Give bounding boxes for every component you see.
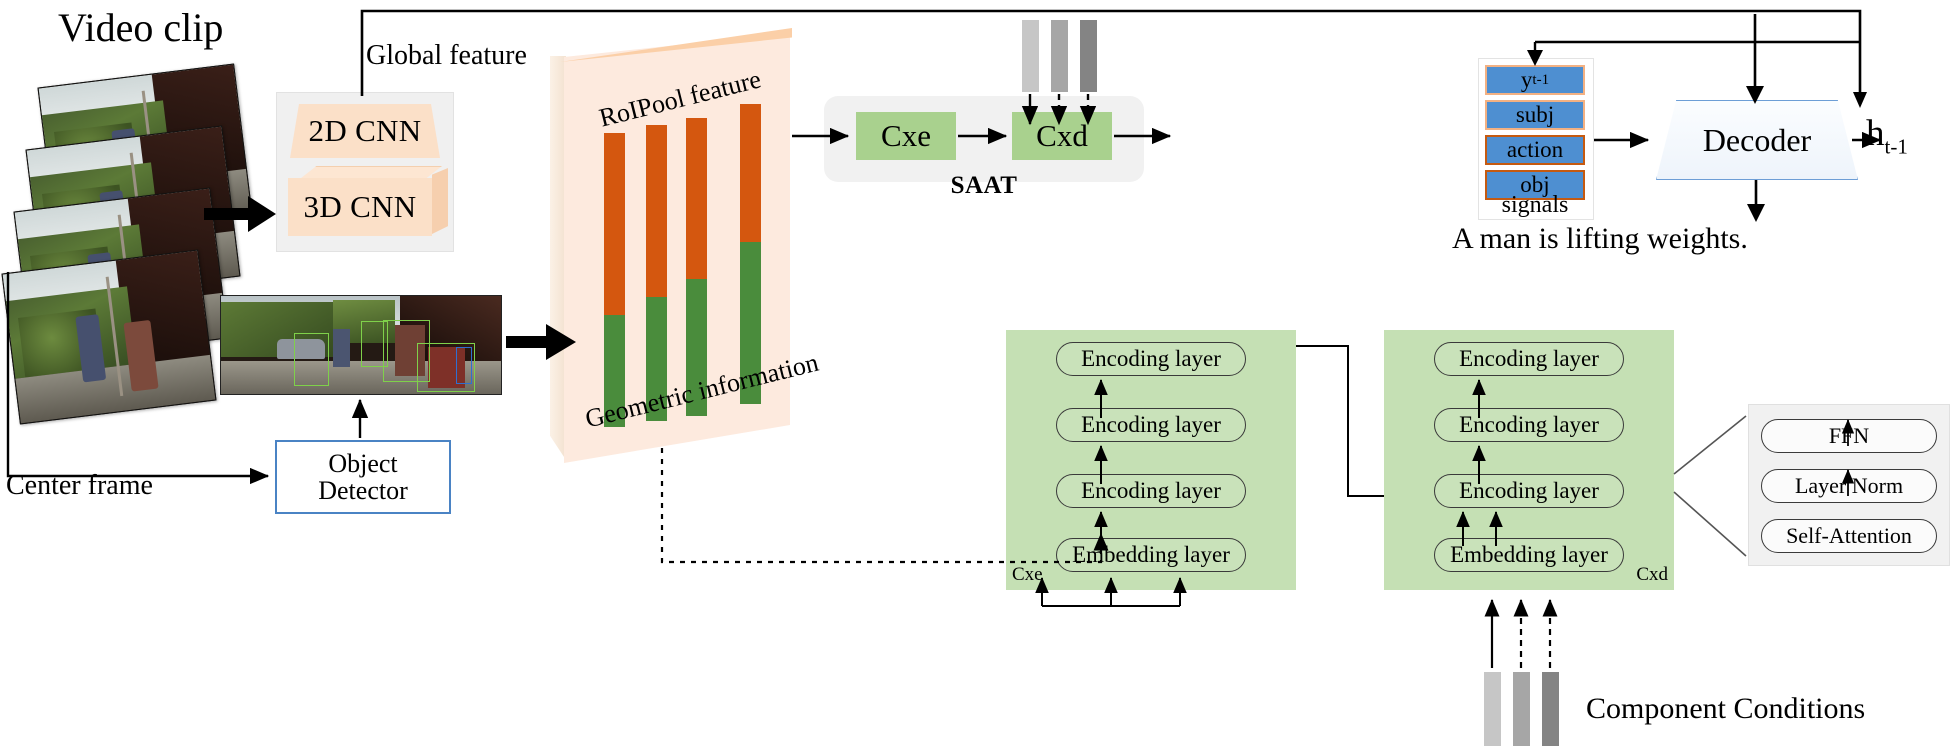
signal-label: subj — [1516, 102, 1554, 128]
hidden-state-subscript: t-1 — [1885, 134, 1908, 158]
layer-norm-label: Layer Norm — [1795, 473, 1903, 499]
decoder-label: Decoder — [1703, 122, 1811, 159]
center-frame-image — [220, 295, 502, 395]
condition-bar-bottom-2 — [1513, 672, 1530, 746]
generated-caption: A man is lifting weights. — [1452, 222, 1748, 256]
cxe-module[interactable]: Cxe — [856, 112, 956, 160]
decoder-block[interactable]: Decoder — [1656, 100, 1858, 180]
condition-bar-top-1 — [1022, 20, 1039, 92]
signal-item-subj[interactable]: subj — [1485, 100, 1585, 130]
cxd-panel-tag: Cxd — [1636, 564, 1668, 586]
cxe-panel-tag: Cxe — [1012, 564, 1043, 586]
arrow-global-to-decoder — [1746, 14, 1764, 104]
cnn-3d-front-face: 3D CNN — [288, 178, 432, 236]
self-attention-item[interactable]: Self-Attention — [1761, 519, 1937, 553]
cxd-label: Cxd — [1036, 118, 1088, 154]
layer-label: Encoding layer — [1459, 412, 1599, 438]
roipool-bar — [604, 133, 625, 427]
saat-label: SAAT — [824, 172, 1144, 200]
cxd-encoding-layer-1[interactable]: Encoding layer — [1434, 474, 1624, 508]
cnn-2d-block[interactable]: 2D CNN — [290, 104, 440, 158]
component-conditions-label: Component Conditions — [1586, 692, 1865, 726]
hidden-state-output: ht-1 — [1866, 112, 1908, 159]
center-frame-label: Center frame — [6, 472, 153, 500]
hidden-state-symbol: h — [1866, 113, 1885, 154]
cxd-embedding-layer[interactable]: Embedding layer — [1434, 538, 1624, 572]
layer-label: Encoding layer — [1081, 412, 1221, 438]
cxd-encoding-layer-3[interactable]: Encoding layer — [1434, 342, 1624, 376]
cxe-detail-panel: Encoding layer Encoding layer Encoding l… — [1006, 330, 1296, 590]
signal-label: y — [1521, 67, 1533, 93]
object-detector-box[interactable]: Object Detector — [275, 440, 451, 514]
video-frame — [1, 250, 216, 425]
roipool-bar — [686, 118, 707, 416]
object-detector-label-line1: Object — [318, 450, 408, 477]
signal-label: action — [1507, 137, 1563, 163]
condition-bar-top-3 — [1080, 20, 1097, 92]
cnn-3d-block[interactable]: 3D CNN — [288, 166, 448, 238]
video-clip-title: Video clip — [58, 8, 223, 48]
condition-bar-bottom-1 — [1484, 672, 1501, 746]
condition-bar-top-2 — [1051, 20, 1068, 92]
cxd-encoding-layer-2[interactable]: Encoding layer — [1434, 408, 1624, 442]
detection-box — [294, 333, 330, 386]
cnn-3d-side-face — [432, 168, 448, 234]
cxd-condition-inputs — [1492, 600, 1550, 668]
layer-label: Embedding layer — [1072, 542, 1230, 568]
cxe-encoding-layer-1[interactable]: Encoding layer — [1056, 474, 1246, 508]
self-attention-label: Self-Attention — [1786, 523, 1912, 549]
layer-label: Encoding layer — [1459, 478, 1599, 504]
layer-label: Encoding layer — [1081, 478, 1221, 504]
roipool-bar — [646, 125, 667, 421]
ffn-item[interactable]: FFN — [1761, 419, 1937, 453]
signal-item-y[interactable]: yt-1 — [1485, 65, 1585, 95]
encoding-layer-detail-panel: FFN Layer Norm Self-Attention — [1748, 404, 1950, 566]
cxd-detail-panel: Encoding layer Encoding layer Encoding l… — [1384, 330, 1674, 590]
layer-label: Encoding layer — [1081, 346, 1221, 372]
detection-box — [361, 321, 388, 366]
cxe-label: Cxe — [881, 118, 931, 154]
condition-bar-bottom-3 — [1542, 672, 1559, 746]
detection-box — [456, 347, 472, 384]
cxe-encoding-layer-3[interactable]: Encoding layer — [1056, 342, 1246, 376]
link-cxe-to-cxd — [1296, 346, 1384, 496]
layer-label: Encoding layer — [1459, 346, 1599, 372]
cxd-module[interactable]: Cxd — [1012, 112, 1112, 160]
object-detector-label-line2: Detector — [318, 477, 408, 504]
cxe-embedding-layer[interactable]: Embedding layer — [1056, 538, 1246, 572]
layer-label: Embedding layer — [1450, 542, 1608, 568]
layer-norm-item[interactable]: Layer Norm — [1761, 469, 1937, 503]
arrow-decoder-to-caption — [1747, 180, 1765, 222]
cnn-3d-label: 3D CNN — [304, 189, 417, 225]
signals-caption: signals — [1478, 192, 1592, 219]
signal-sub: t-1 — [1532, 72, 1549, 89]
cnn-2d-label: 2D CNN — [309, 113, 422, 149]
ffn-label: FFN — [1829, 423, 1869, 449]
cxe-encoding-layer-2[interactable]: Encoding layer — [1056, 408, 1246, 442]
roipool-bar — [740, 104, 761, 404]
signal-item-action[interactable]: action — [1485, 135, 1585, 165]
leader-lines-to-ffn-panel — [1674, 416, 1746, 556]
global-feature-label: Global feature — [366, 42, 527, 70]
